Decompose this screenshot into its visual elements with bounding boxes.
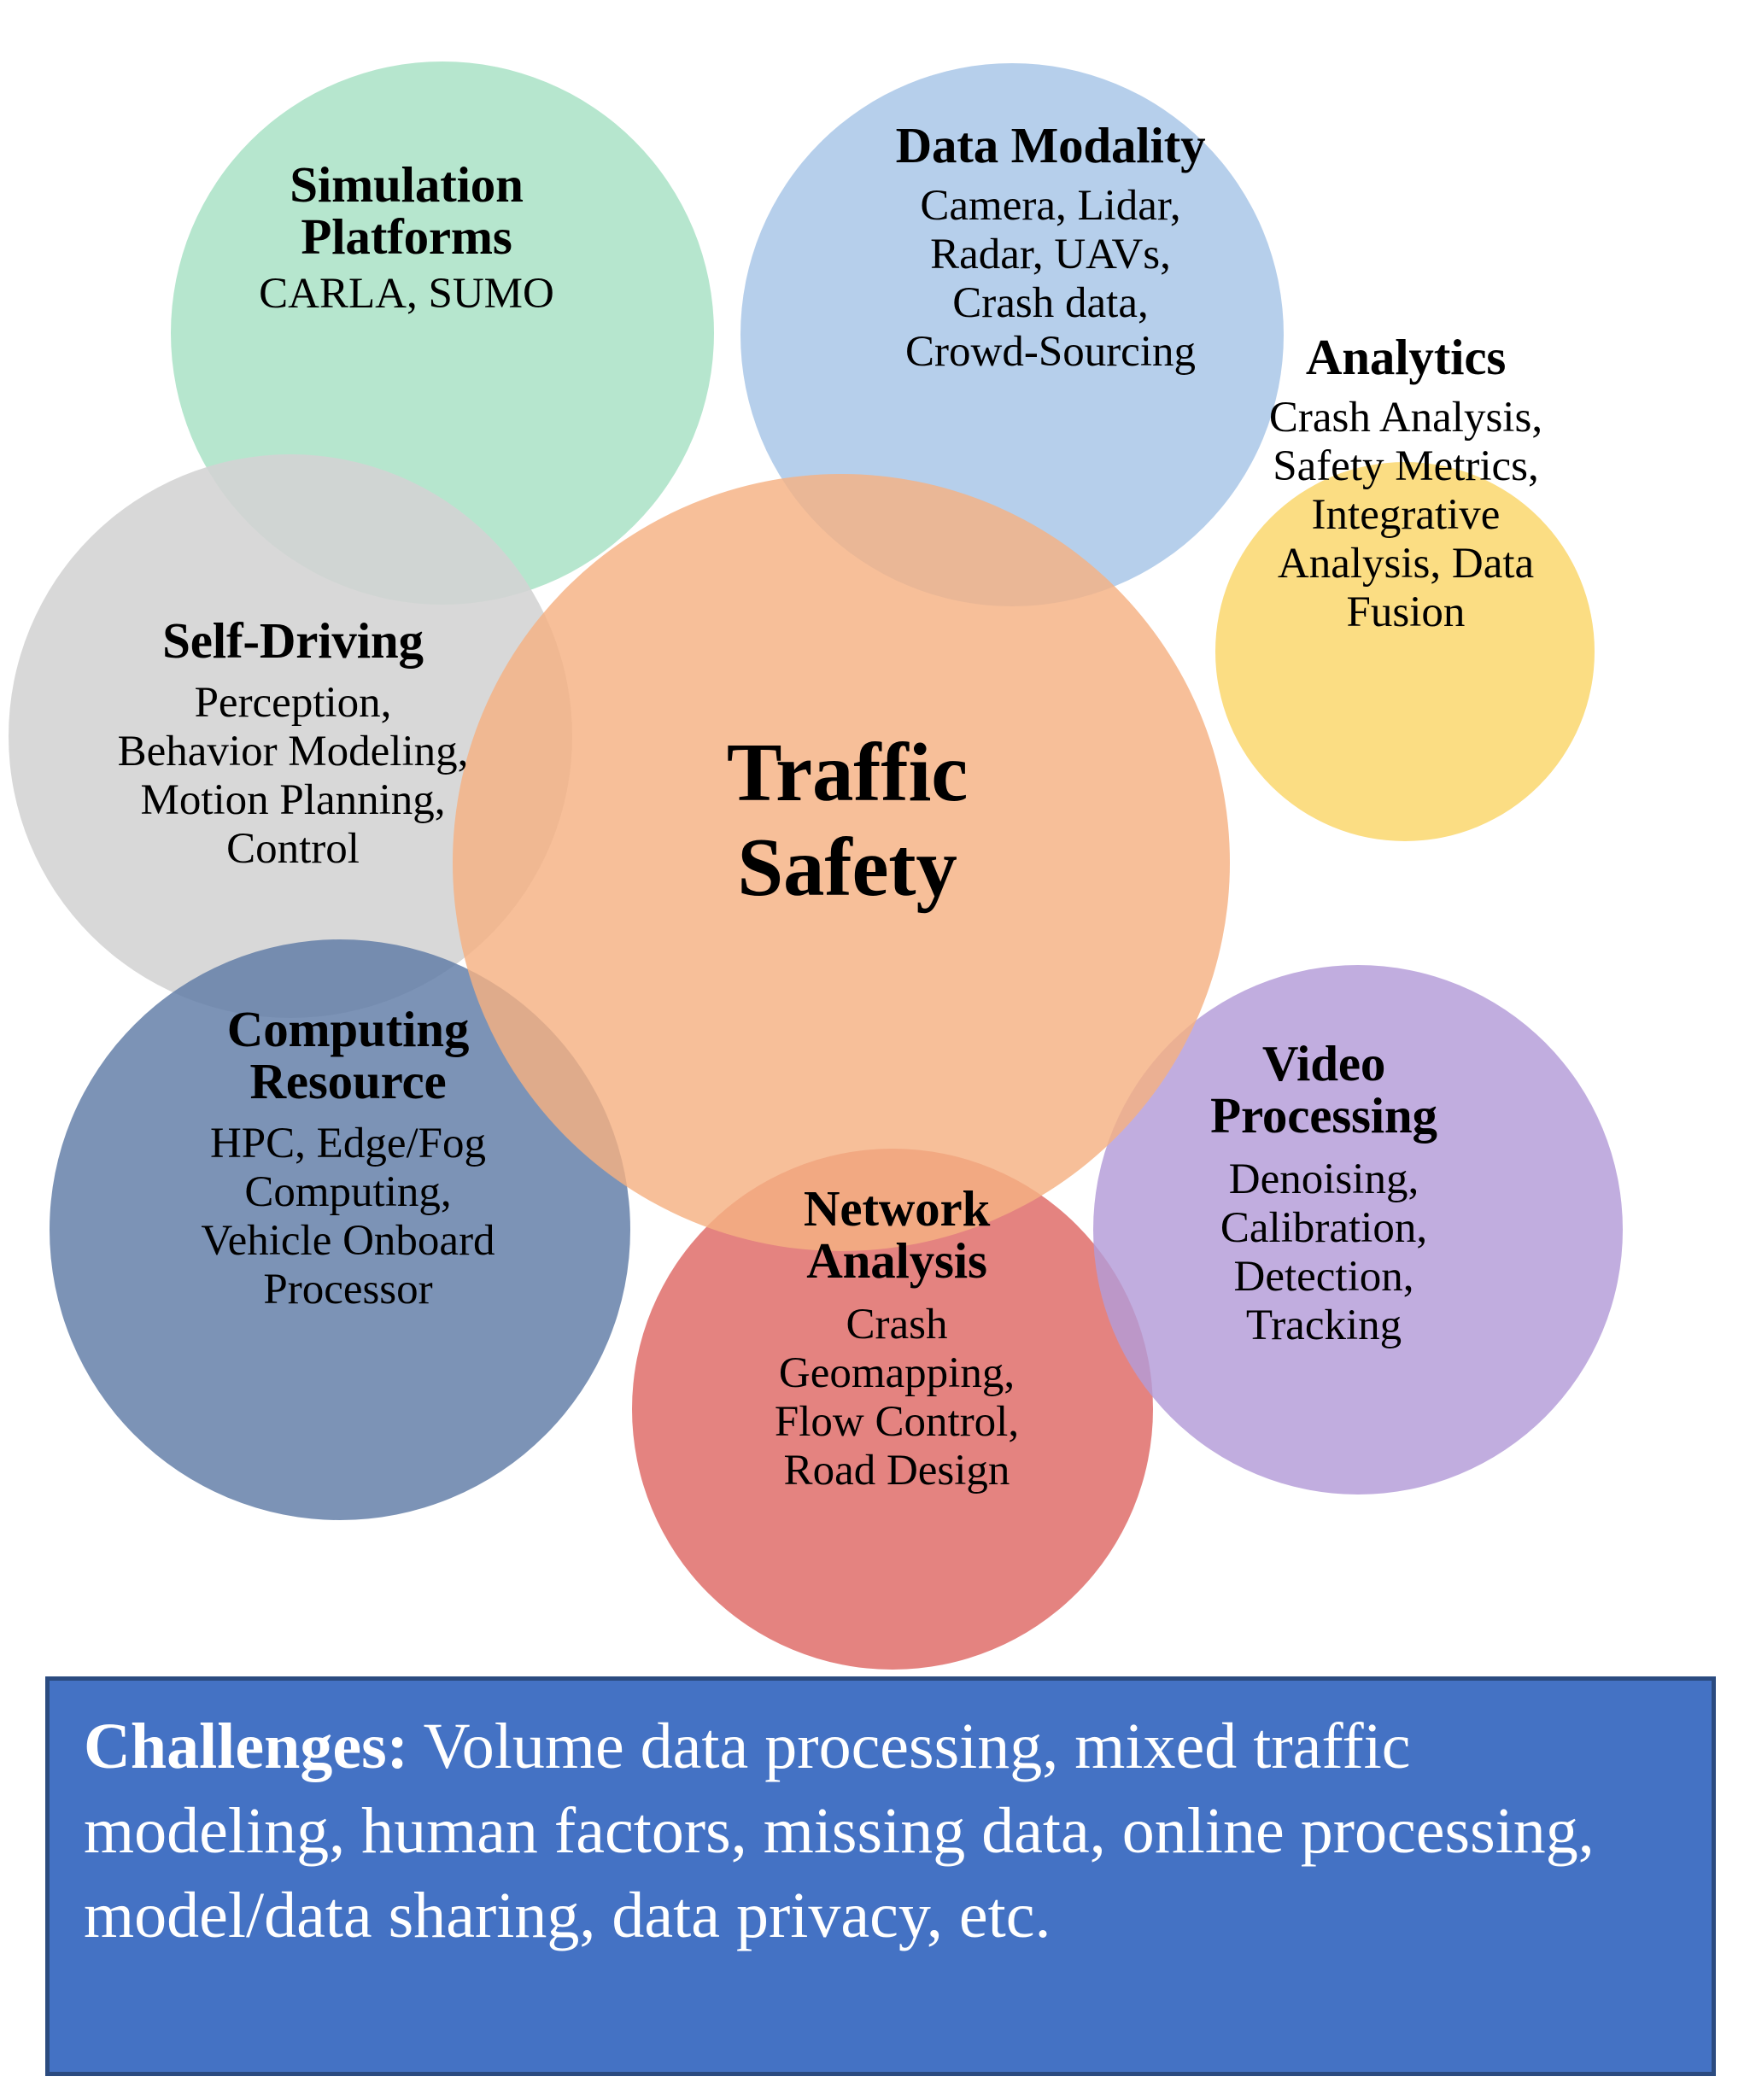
venn-diagram: Simulation Platforms CARLA, SUMO Data Mo… — [0, 0, 1750, 1674]
challenges-text: Challenges: Volume data processing, mixe… — [84, 1705, 1677, 1957]
venn-circles — [0, 0, 1750, 1674]
infographic-root: Simulation Platforms CARLA, SUMO Data Mo… — [0, 0, 1750, 2100]
circle-traffic-safety[interactable] — [453, 474, 1230, 1251]
challenges-lead-label: Challenges: — [84, 1711, 408, 1782]
challenges-banner: Challenges: Volume data processing, mixe… — [45, 1676, 1716, 2076]
circle-analytics[interactable] — [1215, 462, 1595, 841]
